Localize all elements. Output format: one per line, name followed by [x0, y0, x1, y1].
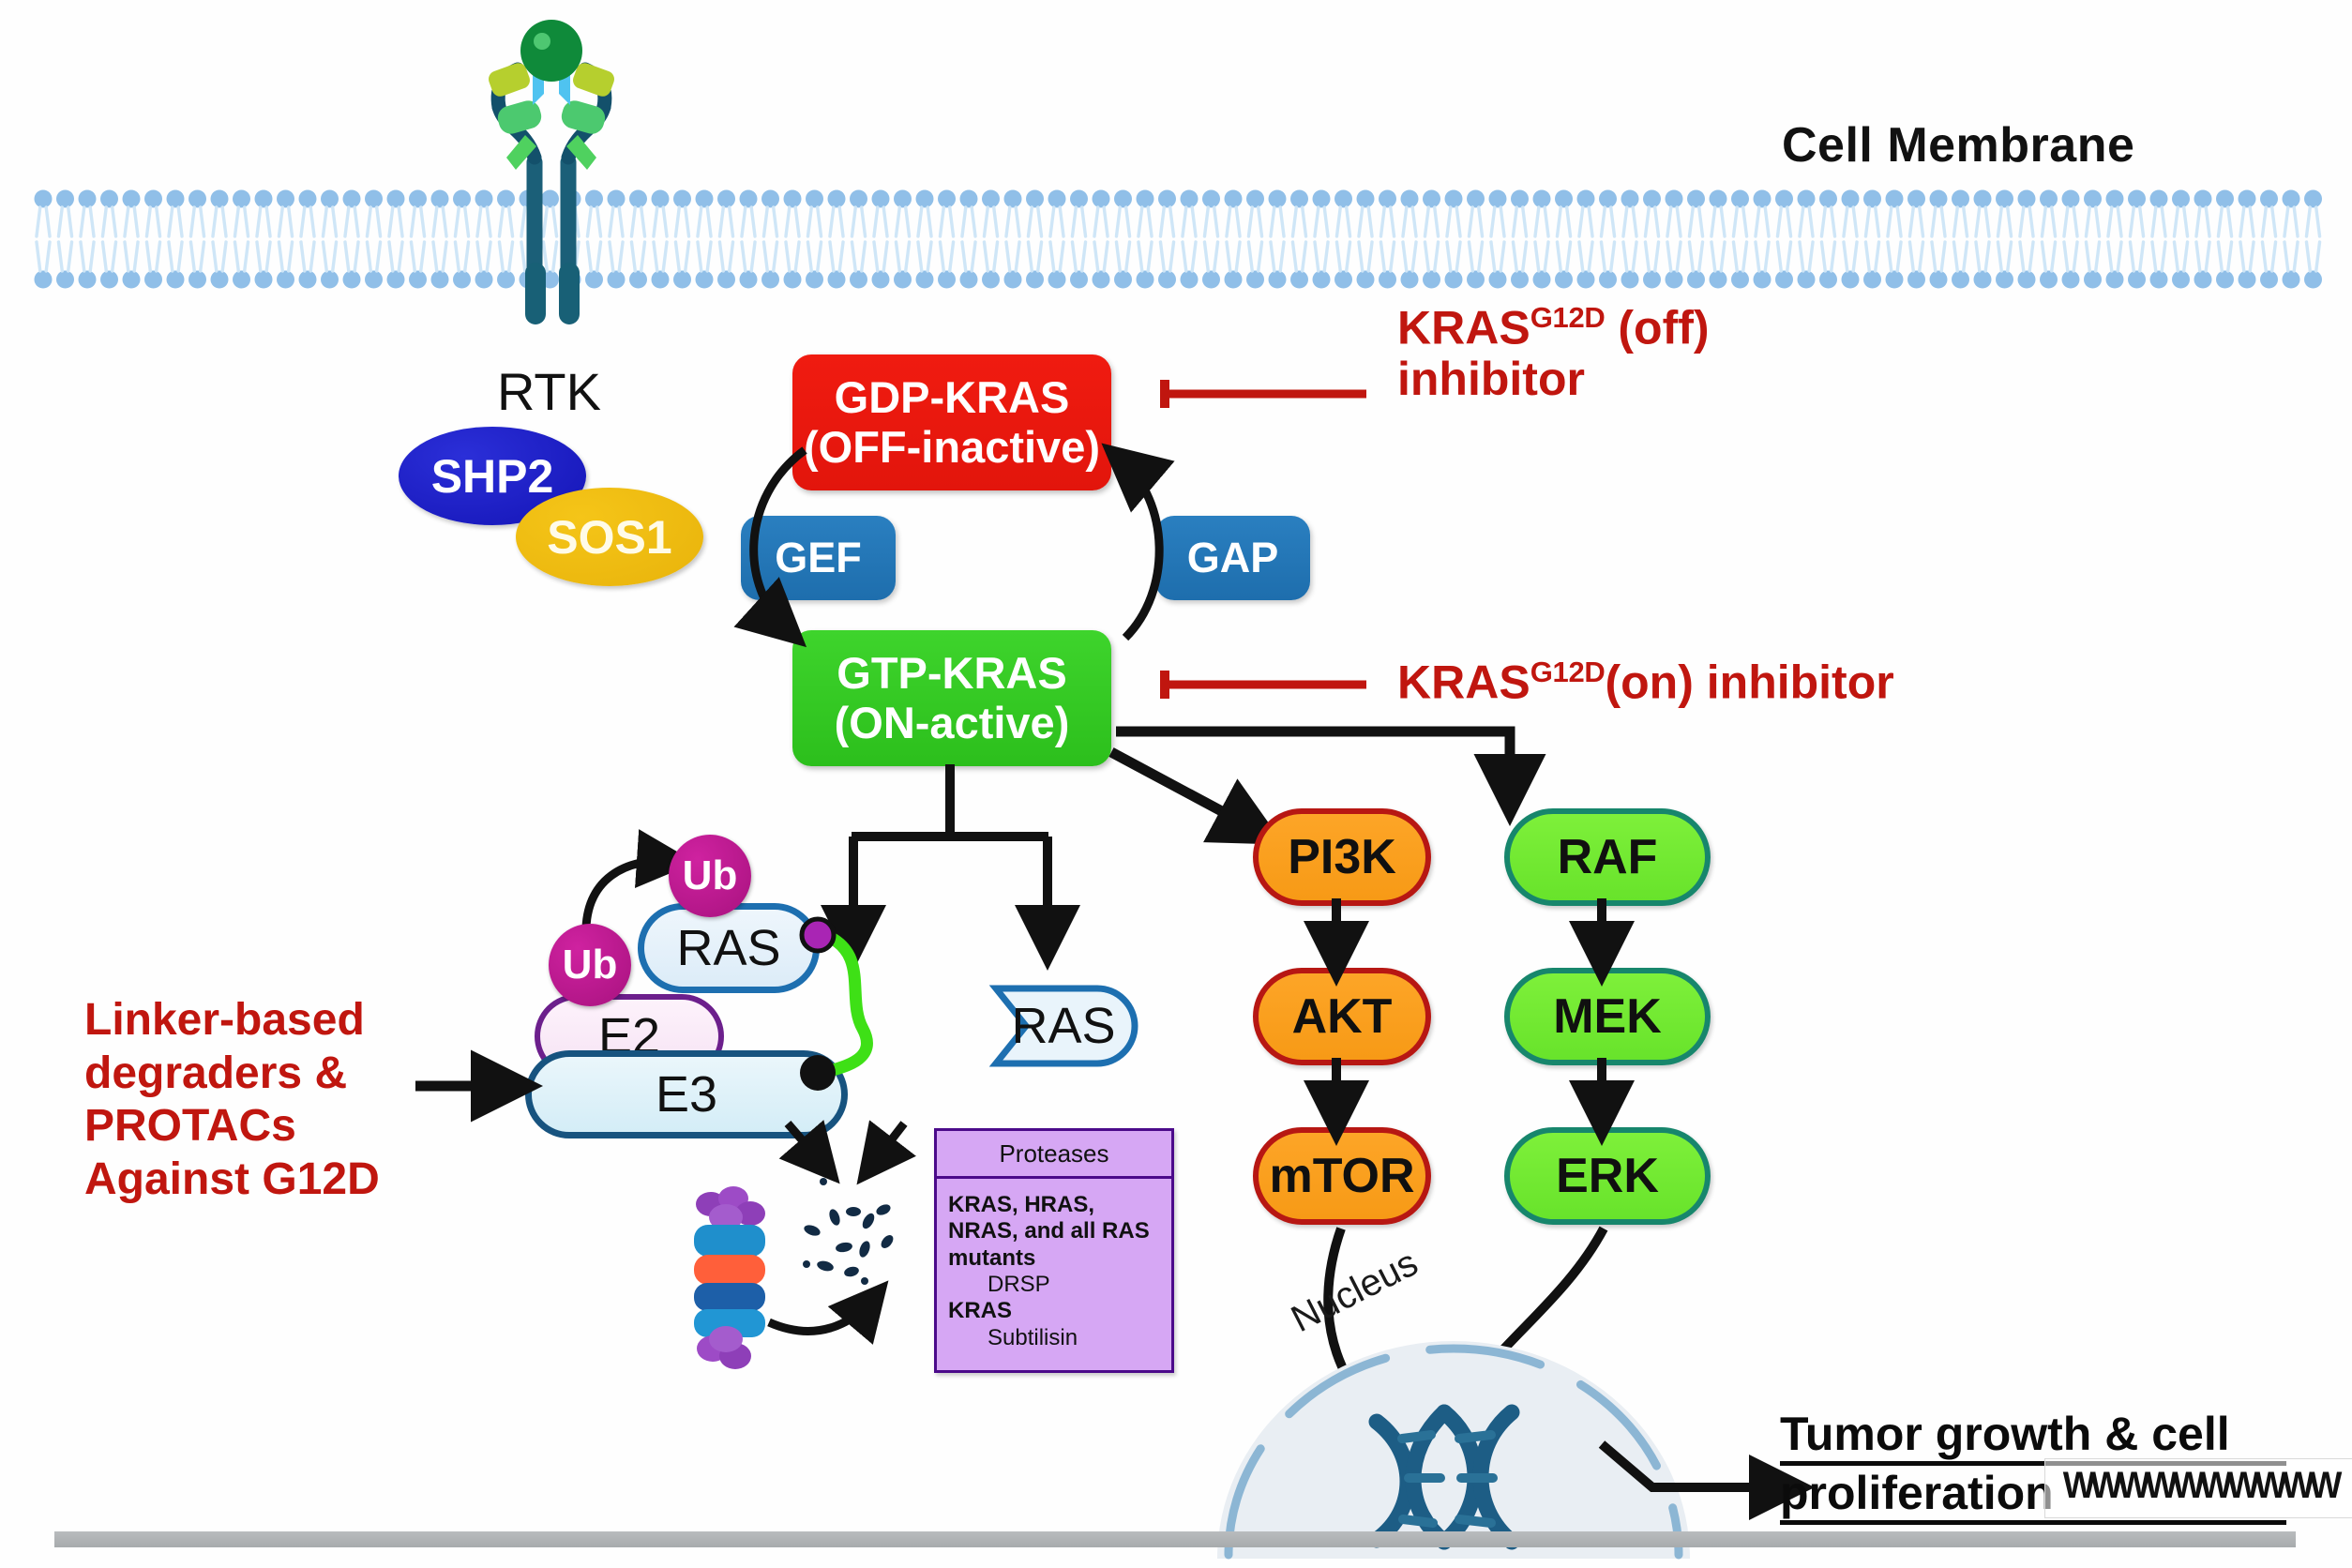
pathway-vertical-arrows	[1247, 891, 1716, 1233]
on-inhibitor-suffix: (on) inhibitor	[1605, 656, 1893, 709]
ubiquitin-icon-e2: Ub	[549, 924, 631, 1006]
watermark-text: WWWWWWWWWW	[2063, 1465, 2337, 1507]
off-inhibitor-bar	[1155, 375, 1371, 417]
proteases-box-body: KRAS, HRAS, NRAS, and all RAS mutants DR…	[937, 1179, 1171, 1357]
nucleus-to-outcome-arrow	[1594, 1444, 1801, 1533]
ras-free-label: RAS	[957, 983, 1144, 1069]
diagram-canvas: Cell Membrane RTK	[0, 0, 2352, 1568]
on-inhibitor-bar	[1155, 666, 1371, 708]
proteases-line-2: mutants	[948, 1245, 1162, 1272]
degrader-label: Linker-based degraders & PROTACs Against…	[84, 994, 380, 1207]
rtk-label: RTK	[497, 361, 601, 422]
ubiquitin-icon-top: Ub	[669, 835, 751, 917]
degrader-to-e3-arrow	[411, 1058, 533, 1119]
rtk-receptor-icon	[467, 17, 645, 326]
sos1-node[interactable]: SOS1	[516, 488, 703, 586]
degrader-line1: Linker-based	[84, 994, 380, 1048]
proteases-box: Proteases KRAS, HRAS, NRAS, and all RAS …	[934, 1128, 1174, 1373]
on-inhibitor-superscript: G12D	[1530, 656, 1606, 688]
outcome-line1: Tumor growth & cell	[1780, 1407, 2286, 1466]
ras-substrate-node[interactable]: RAS	[638, 903, 820, 993]
proteases-line-4: KRAS	[948, 1298, 1162, 1324]
linker-connector	[797, 905, 957, 1111]
on-inhibitor-label: KRASG12D(on) inhibitor	[1397, 656, 1894, 708]
proteases-line-1: NRAS, and all RAS	[948, 1218, 1162, 1244]
proteases-box-header: Proteases	[937, 1131, 1171, 1179]
on-inhibitor-prefix: KRAS	[1397, 656, 1530, 709]
degrader-line4: Against G12D	[84, 1153, 380, 1207]
bottom-floor-bar	[54, 1531, 2296, 1547]
degrader-line3: PROTACs	[84, 1100, 380, 1153]
watermark-artifact: WWWWWWWWWW	[2044, 1458, 2352, 1518]
proteases-line-5: Subtilisin	[948, 1325, 1162, 1351]
proteasome-icon	[671, 1184, 784, 1385]
membrane-svg	[38, 188, 2316, 291]
proteases-line-0: KRAS, HRAS,	[948, 1192, 1162, 1218]
off-inhibitor-label: KRASG12D (off) inhibitor	[1397, 302, 1710, 404]
off-inhibitor-suffix: (off)	[1605, 302, 1709, 354]
off-inhibitor-line2: inhibitor	[1397, 354, 1710, 404]
proteases-line-3: DRSP	[948, 1272, 1162, 1298]
off-inhibitor-superscript: G12D	[1530, 301, 1606, 334]
degrader-line2: degraders &	[84, 1048, 380, 1101]
cell-membrane-bilayer	[38, 188, 2316, 291]
ras-free-node[interactable]: RAS	[957, 983, 1144, 1074]
cell-membrane-label: Cell Membrane	[1782, 117, 2134, 173]
off-inhibitor-prefix: KRAS	[1397, 302, 1530, 354]
